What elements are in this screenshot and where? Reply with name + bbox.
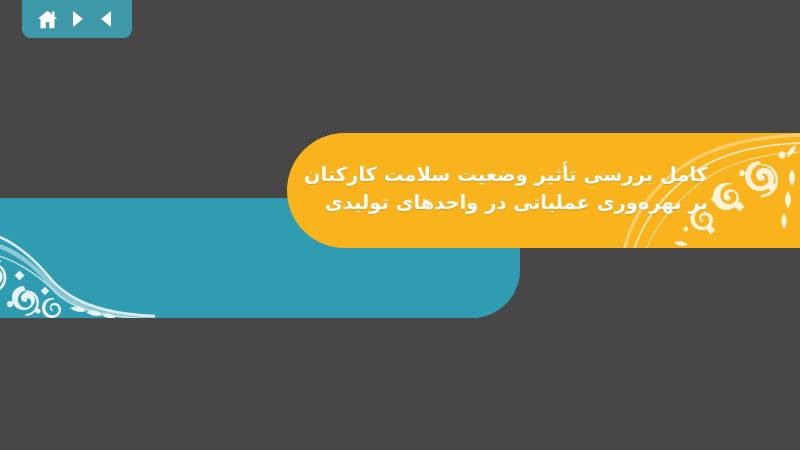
teal-arabesque-ornament-icon <box>0 198 155 318</box>
slide-navigation-bar <box>22 0 132 38</box>
presentation-slide: کامل بررسی تأثیر وضعیت سلامت کارکنان بر … <box>0 0 800 450</box>
previous-slide-button[interactable] <box>94 6 120 32</box>
slide-title-line-2: بر بهره‌وری عملیاتی در واحدهای تولیدی <box>347 189 708 217</box>
next-slide-button[interactable] <box>64 6 90 32</box>
slide-title: کامل بررسی تأثیر وضعیت سلامت کارکنان بر … <box>347 161 708 216</box>
triangle-left-icon <box>98 10 116 28</box>
slide-title-line-1: کامل بررسی تأثیر وضعیت سلامت کارکنان <box>347 161 708 189</box>
triangle-right-icon <box>68 10 86 28</box>
home-button[interactable] <box>34 6 60 32</box>
orange-title-banner: کامل بررسی تأثیر وضعیت سلامت کارکنان بر … <box>287 133 800 248</box>
home-icon <box>37 9 58 30</box>
